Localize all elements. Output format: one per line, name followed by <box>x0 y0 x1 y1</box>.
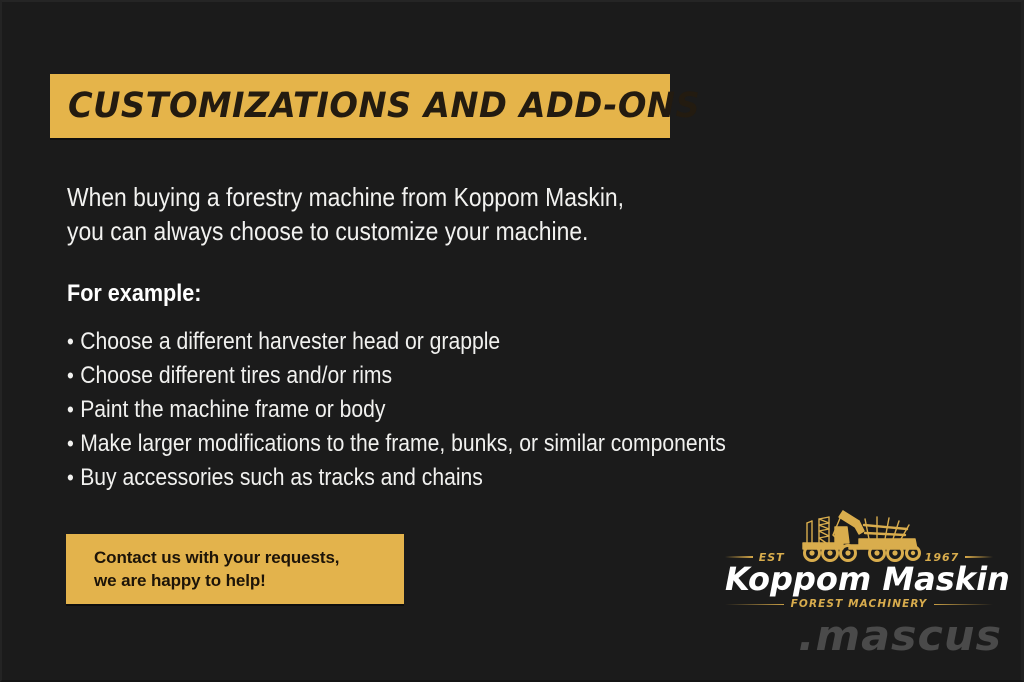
list-item: Buy accessories such as tracks and chain… <box>67 461 736 495</box>
list-item: Choose a different harvester head or gra… <box>67 325 736 359</box>
for-example-label: For example: <box>67 279 201 309</box>
list-item: Make larger modifications to the frame, … <box>67 427 736 461</box>
mascus-watermark: .mascus <box>749 615 1002 657</box>
customization-options-list: Choose a different harvester head or gra… <box>67 325 736 495</box>
list-item: Choose different tires and/or rims <box>67 359 736 393</box>
contact-line-2: we are happy to help! <box>94 569 404 592</box>
advertisement-slide: CUSTOMIZATIONS AND ADD-ONS When buying a… <box>0 0 1024 682</box>
logo-tagline: FOREST MACHINERY <box>791 598 928 610</box>
intro-line-1: When buying a forestry machine from Kopp… <box>67 180 701 214</box>
logo-tagline-row: FOREST MACHINERY <box>725 597 993 611</box>
contact-line-1: Contact us with your requests, <box>94 546 404 569</box>
page-title: CUSTOMIZATIONS AND ADD-ONS <box>68 89 700 124</box>
logo-tagline-rule-left <box>725 604 784 605</box>
title-banner: CUSTOMIZATIONS AND ADD-ONS <box>50 74 670 138</box>
intro-line-2: you can always choose to customize your … <box>67 214 701 248</box>
intro-paragraph: When buying a forestry machine from Kopp… <box>67 180 701 248</box>
contact-cta-box[interactable]: Contact us with your requests, we are ha… <box>66 534 404 604</box>
logo-divider-left <box>725 556 753 558</box>
koppom-maskin-logo: EST 1967 Koppom Maskin FOREST MACHINERY <box>725 505 993 611</box>
logo-tagline-rule-right <box>934 604 993 605</box>
list-item: Paint the machine frame or body <box>67 393 736 427</box>
logo-brand-name: Koppom Maskin <box>725 562 993 596</box>
logo-divider-right <box>965 556 993 558</box>
